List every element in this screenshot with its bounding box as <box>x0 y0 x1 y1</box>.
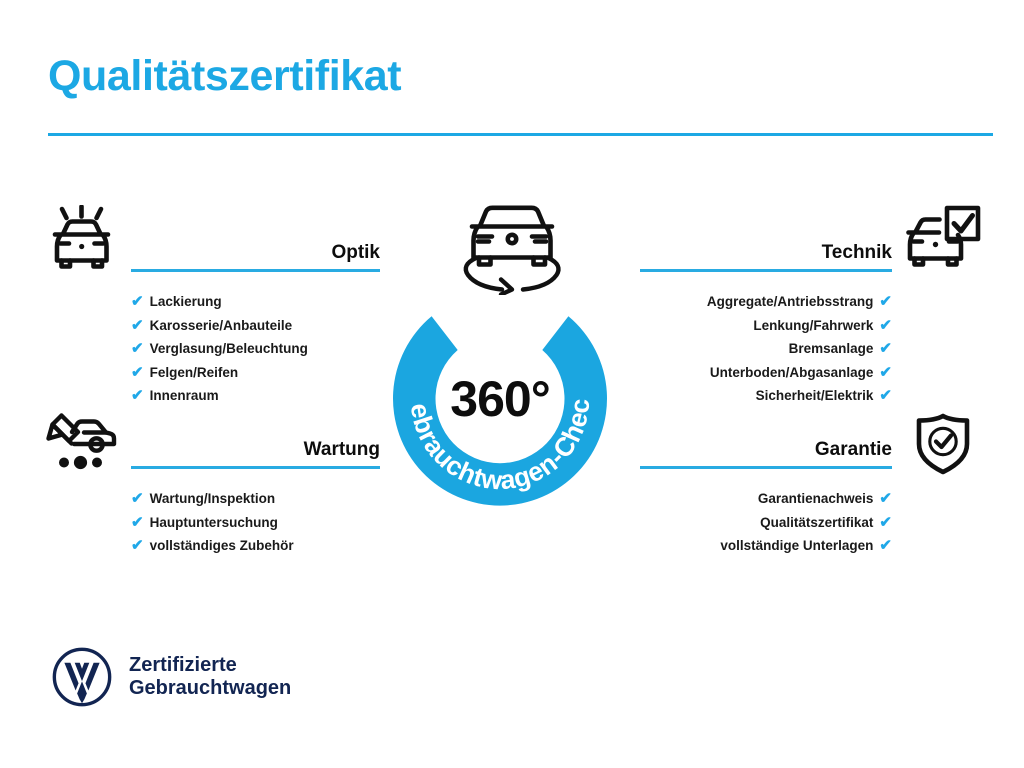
list-item-label: Hauptuntersuchung <box>150 511 278 535</box>
section-optik-list: ✔Lackierung ✔Karosserie/Anbauteile ✔Verg… <box>131 290 380 408</box>
badge-360-check: Gebrauchtwagen-Check 360° <box>372 272 628 528</box>
check-icon: ✔ <box>131 491 144 506</box>
list-item-label: Unterboden/Abgasanlage <box>710 361 874 385</box>
section-technik-header: Technik <box>640 222 892 280</box>
check-icon: ✔ <box>131 538 144 553</box>
check-icon: ✔ <box>131 388 144 403</box>
list-item: Bremsanlage✔ <box>640 337 892 361</box>
list-item-label: Aggregate/Antriebsstrang <box>707 290 874 314</box>
section-wartung-list: ✔Wartung/Inspektion ✔Hauptuntersuchung ✔… <box>131 487 380 558</box>
check-icon: ✔ <box>879 388 892 403</box>
list-item: ✔Wartung/Inspektion <box>131 487 380 511</box>
list-item: Aggregate/Antriebsstrang✔ <box>640 290 892 314</box>
section-wartung-divider <box>131 466 380 469</box>
list-item-label: Qualitätszertifikat <box>760 511 873 535</box>
list-item-label: Karosserie/Anbauteile <box>150 314 293 338</box>
list-item: ✔vollständiges Zubehör <box>131 534 380 558</box>
list-item: Garantienachweis✔ <box>640 487 892 511</box>
footer-brand: Zertifizierte Gebrauchtwagen <box>52 647 291 707</box>
check-icon: ✔ <box>131 294 144 309</box>
car-checkbox-icon <box>906 205 982 274</box>
pencil-car-service-icon <box>44 412 118 477</box>
section-garantie-title: Garantie <box>815 439 892 461</box>
section-technik-list: Aggregate/Antriebsstrang✔ Lenkung/Fahrwe… <box>640 290 892 408</box>
section-optik-title: Optik <box>331 242 380 264</box>
list-item: Lenkung/Fahrwerk✔ <box>640 314 892 338</box>
section-wartung-header: Wartung <box>131 419 380 477</box>
list-item: ✔Verglasung/Beleuchtung <box>131 337 380 361</box>
check-icon: ✔ <box>131 365 144 380</box>
header-divider <box>48 133 993 136</box>
section-garantie-list: Garantienachweis✔ Qualitätszertifikat✔ v… <box>640 487 892 558</box>
section-garantie-divider <box>640 466 892 469</box>
list-item: ✔Hauptuntersuchung <box>131 511 380 535</box>
list-item-label: Lenkung/Fahrwerk <box>753 314 873 338</box>
section-optik-header: Optik <box>131 222 380 280</box>
list-item: Unterboden/Abgasanlage✔ <box>640 361 892 385</box>
section-garantie-header: Garantie <box>640 419 892 477</box>
section-wartung-title: Wartung <box>304 439 380 461</box>
list-item-label: Garantienachweis <box>758 487 874 511</box>
footer-brand-text: Zertifizierte Gebrauchtwagen <box>129 654 291 700</box>
section-technik: Technik Aggregate/Antriebsstrang✔ Lenkun… <box>640 222 892 408</box>
list-item: ✔Karosserie/Anbauteile <box>131 314 380 338</box>
section-optik-divider <box>131 269 380 272</box>
section-technik-title: Technik <box>822 242 892 264</box>
check-icon: ✔ <box>131 318 144 333</box>
list-item-label: Verglasung/Beleuchtung <box>150 337 308 361</box>
list-item: Qualitätszertifikat✔ <box>640 511 892 535</box>
list-item-label: Innenraum <box>150 384 219 408</box>
footer-brand-line1: Zertifizierte <box>129 654 291 677</box>
list-item: ✔Lackierung <box>131 290 380 314</box>
section-garantie: Garantie Garantienachweis✔ Qualitätszert… <box>640 419 892 558</box>
section-wartung: Wartung ✔Wartung/Inspektion ✔Hauptunters… <box>131 419 380 558</box>
footer-brand-line2: Gebrauchtwagen <box>129 677 291 700</box>
check-icon: ✔ <box>879 538 892 553</box>
section-technik-divider <box>640 269 892 272</box>
list-item-label: Bremsanlage <box>789 337 874 361</box>
list-item: ✔Felgen/Reifen <box>131 361 380 385</box>
check-icon: ✔ <box>131 341 144 356</box>
certificate-page: Qualitätszertifikat <box>0 0 1024 768</box>
list-item-label: Wartung/Inspektion <box>150 487 276 511</box>
list-item: vollständige Unterlagen✔ <box>640 534 892 558</box>
list-item-label: Lackierung <box>150 290 222 314</box>
badge-value: 360° <box>372 370 628 428</box>
list-item-label: Felgen/Reifen <box>150 361 239 385</box>
check-icon: ✔ <box>879 491 892 506</box>
list-item-label: vollständiges Zubehör <box>150 534 294 558</box>
check-icon: ✔ <box>879 318 892 333</box>
check-icon: ✔ <box>879 341 892 356</box>
list-item-label: vollständige Unterlagen <box>720 534 873 558</box>
check-icon: ✔ <box>879 515 892 530</box>
car-shine-icon <box>46 205 118 276</box>
section-optik: Optik ✔Lackierung ✔Karosserie/Anbauteile… <box>131 222 380 408</box>
list-item: ✔Innenraum <box>131 384 380 408</box>
page-title: Qualitätszertifikat <box>48 54 401 99</box>
list-item: Sicherheit/Elektrik✔ <box>640 384 892 408</box>
list-item-label: Sicherheit/Elektrik <box>756 384 874 408</box>
check-icon: ✔ <box>131 515 144 530</box>
check-icon: ✔ <box>879 365 892 380</box>
check-icon: ✔ <box>879 294 892 309</box>
volkswagen-logo <box>52 647 112 707</box>
shield-check-icon <box>915 413 971 480</box>
